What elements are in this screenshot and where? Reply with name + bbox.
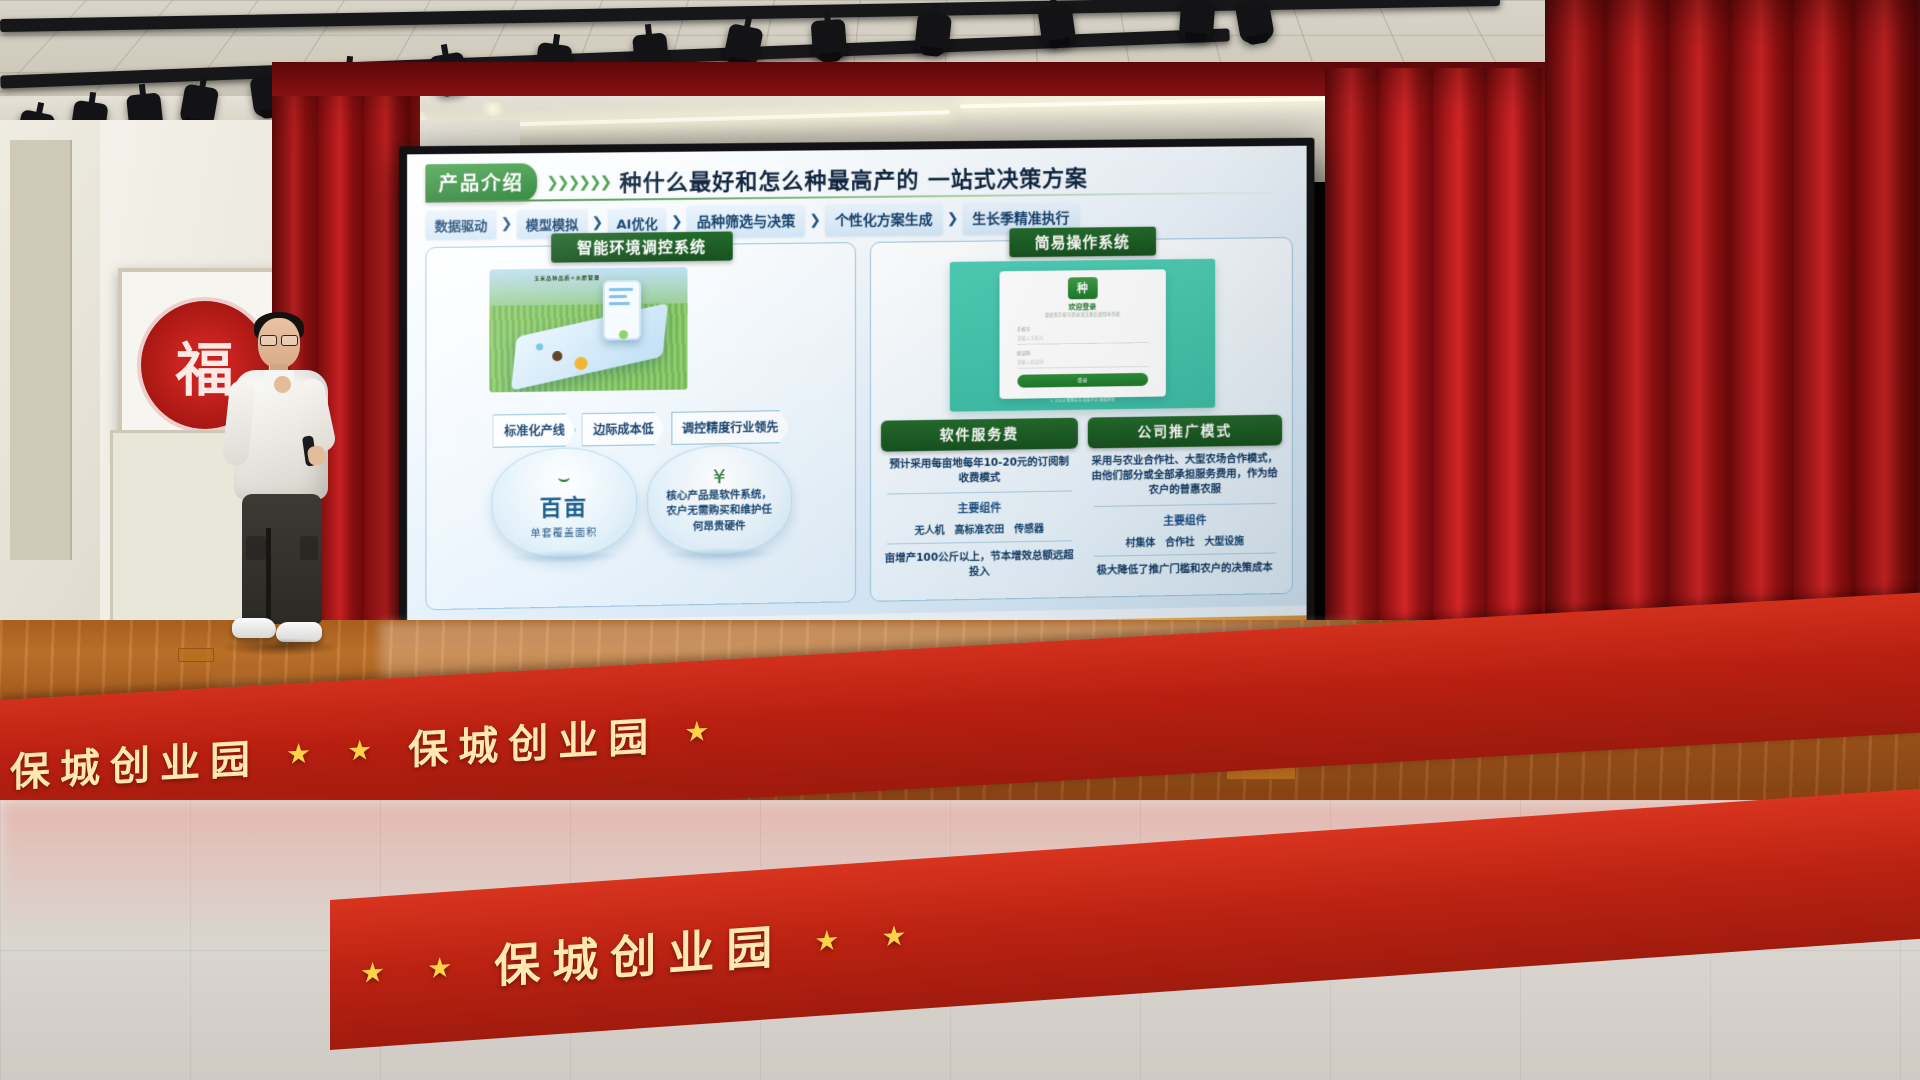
stage-lamp	[1179, 0, 1216, 41]
highlight-bubble-coverage: ⌣ 百亩 单套覆盖面积	[491, 447, 637, 560]
coverage-label: 单套覆盖面积	[530, 523, 597, 539]
card-item: 高标准农田	[955, 521, 1005, 537]
venue-name: 保城创业园	[494, 910, 784, 996]
card-item: 无人机	[915, 522, 945, 538]
app-login-button	[1017, 373, 1148, 388]
illustration-caption: 玉米品种品质+水肥管理	[534, 274, 600, 282]
card-item-list: 村集体 合作社 大型设施	[1087, 531, 1282, 549]
led-screen-surface: 产品介绍 ❯❯❯❯❯❯ 种什么最好和怎么种最高产的 一站式决策方案 数据驱动 ❯…	[407, 146, 1307, 659]
recessed-light	[478, 102, 508, 116]
star-icon: ★	[814, 922, 851, 958]
slide-panels: 智能环境调控系统 玉米品种品质+水肥管理 标准化产线	[425, 237, 1292, 610]
star-icon: ★	[347, 732, 382, 767]
card-note: 亩增产100公斤以上，节本增效总额远超投入	[881, 549, 1077, 582]
coverage-value: 百亩	[540, 489, 589, 522]
chevron-right-icon: ❯	[947, 211, 959, 227]
star-icon: ★	[360, 954, 397, 990]
glasses-icon	[260, 335, 298, 344]
card-header: 公司推广模式	[1087, 415, 1282, 449]
card-subheading: 主要组件	[881, 499, 1077, 518]
app-screenshot: 欢迎登录 请使用手机号登录或注册后使用本系统 手机号 请输入手机号 验证码 请输…	[949, 259, 1214, 412]
presentation-slide: 产品介绍 ❯❯❯❯❯❯ 种什么最好和怎么种最高产的 一站式决策方案 数据驱动 ❯…	[407, 146, 1307, 659]
chevron-right-icon: ❯	[501, 216, 513, 232]
chevron-right-icon: ❯	[591, 215, 603, 231]
card-text: 预计采用每亩地每年10-20元的订阅制收费模式	[881, 455, 1077, 489]
slide-title: 种什么最好和怎么种最高产的 一站式决策方案	[619, 161, 1088, 198]
venue-name: 保城创业园	[10, 726, 260, 798]
star-icon: ★	[684, 713, 719, 748]
presenter-shadow	[220, 638, 340, 656]
card-subheading: 主要组件	[1087, 510, 1282, 529]
chevron-right-icon: ❯❯❯❯❯❯	[546, 173, 610, 192]
card-promotion-model: 公司推广模式 采用与农业合作社、大型农场合作模式，由他们部分或全部承担服务费用，…	[1087, 415, 1282, 579]
chevron-right-icon: ❯	[671, 214, 683, 230]
highlight-bubbles: ⌣ 百亩 单套覆盖面积 ¥ 核心产品是软件系统，农户无需购买和维护任何昂贵硬件	[437, 443, 845, 591]
presenter-shoe-left	[232, 618, 276, 638]
presenter-hand-left	[274, 376, 291, 393]
venue-name: 保城创业园	[408, 704, 658, 776]
panel-header-right: 简易操作系统	[1009, 227, 1156, 258]
flow-step: 个性化方案生成	[825, 203, 943, 236]
card-item: 合作社	[1165, 533, 1195, 548]
stage-lamp	[811, 19, 848, 61]
card-software-fee: 软件服务费 预计采用每亩地每年10-20元的订阅制收费模式 主要组件 无人机 高…	[881, 418, 1077, 582]
panel-header-left: 智能环境调控系统	[551, 231, 733, 262]
software-note: 核心产品是软件系统，农户无需购买和维护任何昂贵硬件	[648, 487, 791, 535]
floor-vent	[178, 648, 214, 662]
highlight-bubble-software: ¥ 核心产品是软件系统，农户无需购买和维护任何昂贵硬件	[647, 444, 792, 557]
app-footer-text: © 2024 智慧农业决策平台 版权所有	[949, 396, 1214, 406]
product-illustration: 玉米品种品质+水肥管理	[489, 267, 687, 392]
stage-lamp	[914, 12, 952, 55]
feature-tag: 边际成本低	[582, 412, 665, 446]
card-header: 软件服务费	[881, 418, 1077, 452]
card-text: 采用与农业合作社、大型农场合作模式，由他们部分或全部承担服务费用，作为给农户的普…	[1087, 451, 1282, 500]
slide-section-badge: 产品介绍	[425, 163, 537, 202]
panel-smart-environment-control: 智能环境调控系统 玉米品种品质+水肥管理 标准化产线	[425, 242, 856, 610]
card-item-list: 无人机 高标准农田 传感器	[881, 520, 1077, 538]
feature-tag-row: 标准化产线 边际成本低 调控精度行业领先	[441, 409, 841, 448]
flow-step: 数据驱动	[425, 209, 496, 239]
star-icon: ★	[881, 917, 918, 953]
feature-tag: 调控精度行业领先	[671, 410, 790, 445]
chevron-right-icon: ❯	[809, 212, 821, 228]
card-item: 传感器	[1014, 520, 1044, 535]
app-login-card: 欢迎登录 请使用手机号登录或注册后使用本系统 手机号 请输入手机号 验证码 请输…	[999, 269, 1165, 399]
card-note: 极大降低了推广门槛和农户的决策成本	[1087, 560, 1282, 578]
panel-simple-operation-system: 简易操作系统 欢迎登录 请使用手机号登录或注册后使用本系统 手机号 请输入手机号…	[870, 237, 1293, 602]
app-login-hint: 请使用手机号登录或注册后使用本系统	[999, 311, 1165, 319]
stage-lamp	[1037, 4, 1076, 48]
app-field-label: 手机号	[1017, 327, 1030, 333]
star-icon: ★	[427, 949, 464, 985]
app-field-label: 验证码	[1017, 351, 1030, 357]
card-item: 村集体	[1126, 533, 1156, 548]
stage-lamp	[1235, 0, 1275, 45]
card-item: 大型设施	[1205, 532, 1244, 548]
feature-tag: 标准化产线	[493, 413, 576, 447]
presentation-room-photo: 产品介绍 ❯❯❯❯❯❯ 种什么最好和怎么种最高产的 一站式决策方案 数据驱动 ❯…	[0, 0, 1920, 1080]
business-model-cards: 软件服务费 预计采用每亩地每年10-20元的订阅制收费模式 主要组件 无人机 高…	[881, 415, 1282, 582]
led-screen: 产品介绍 ❯❯❯❯❯❯ 种什么最好和怎么种最高产的 一站式决策方案 数据驱动 ❯…	[399, 138, 1315, 672]
app-field-value: 请输入手机号	[1017, 336, 1044, 342]
coverage-icon: ⌣	[557, 467, 570, 487]
star-icon: ★	[286, 736, 321, 771]
presenter	[212, 318, 352, 668]
app-field-value: 请输入验证码	[1017, 359, 1044, 365]
app-logo-icon	[1067, 277, 1097, 299]
yuan-icon: ¥	[713, 466, 726, 486]
